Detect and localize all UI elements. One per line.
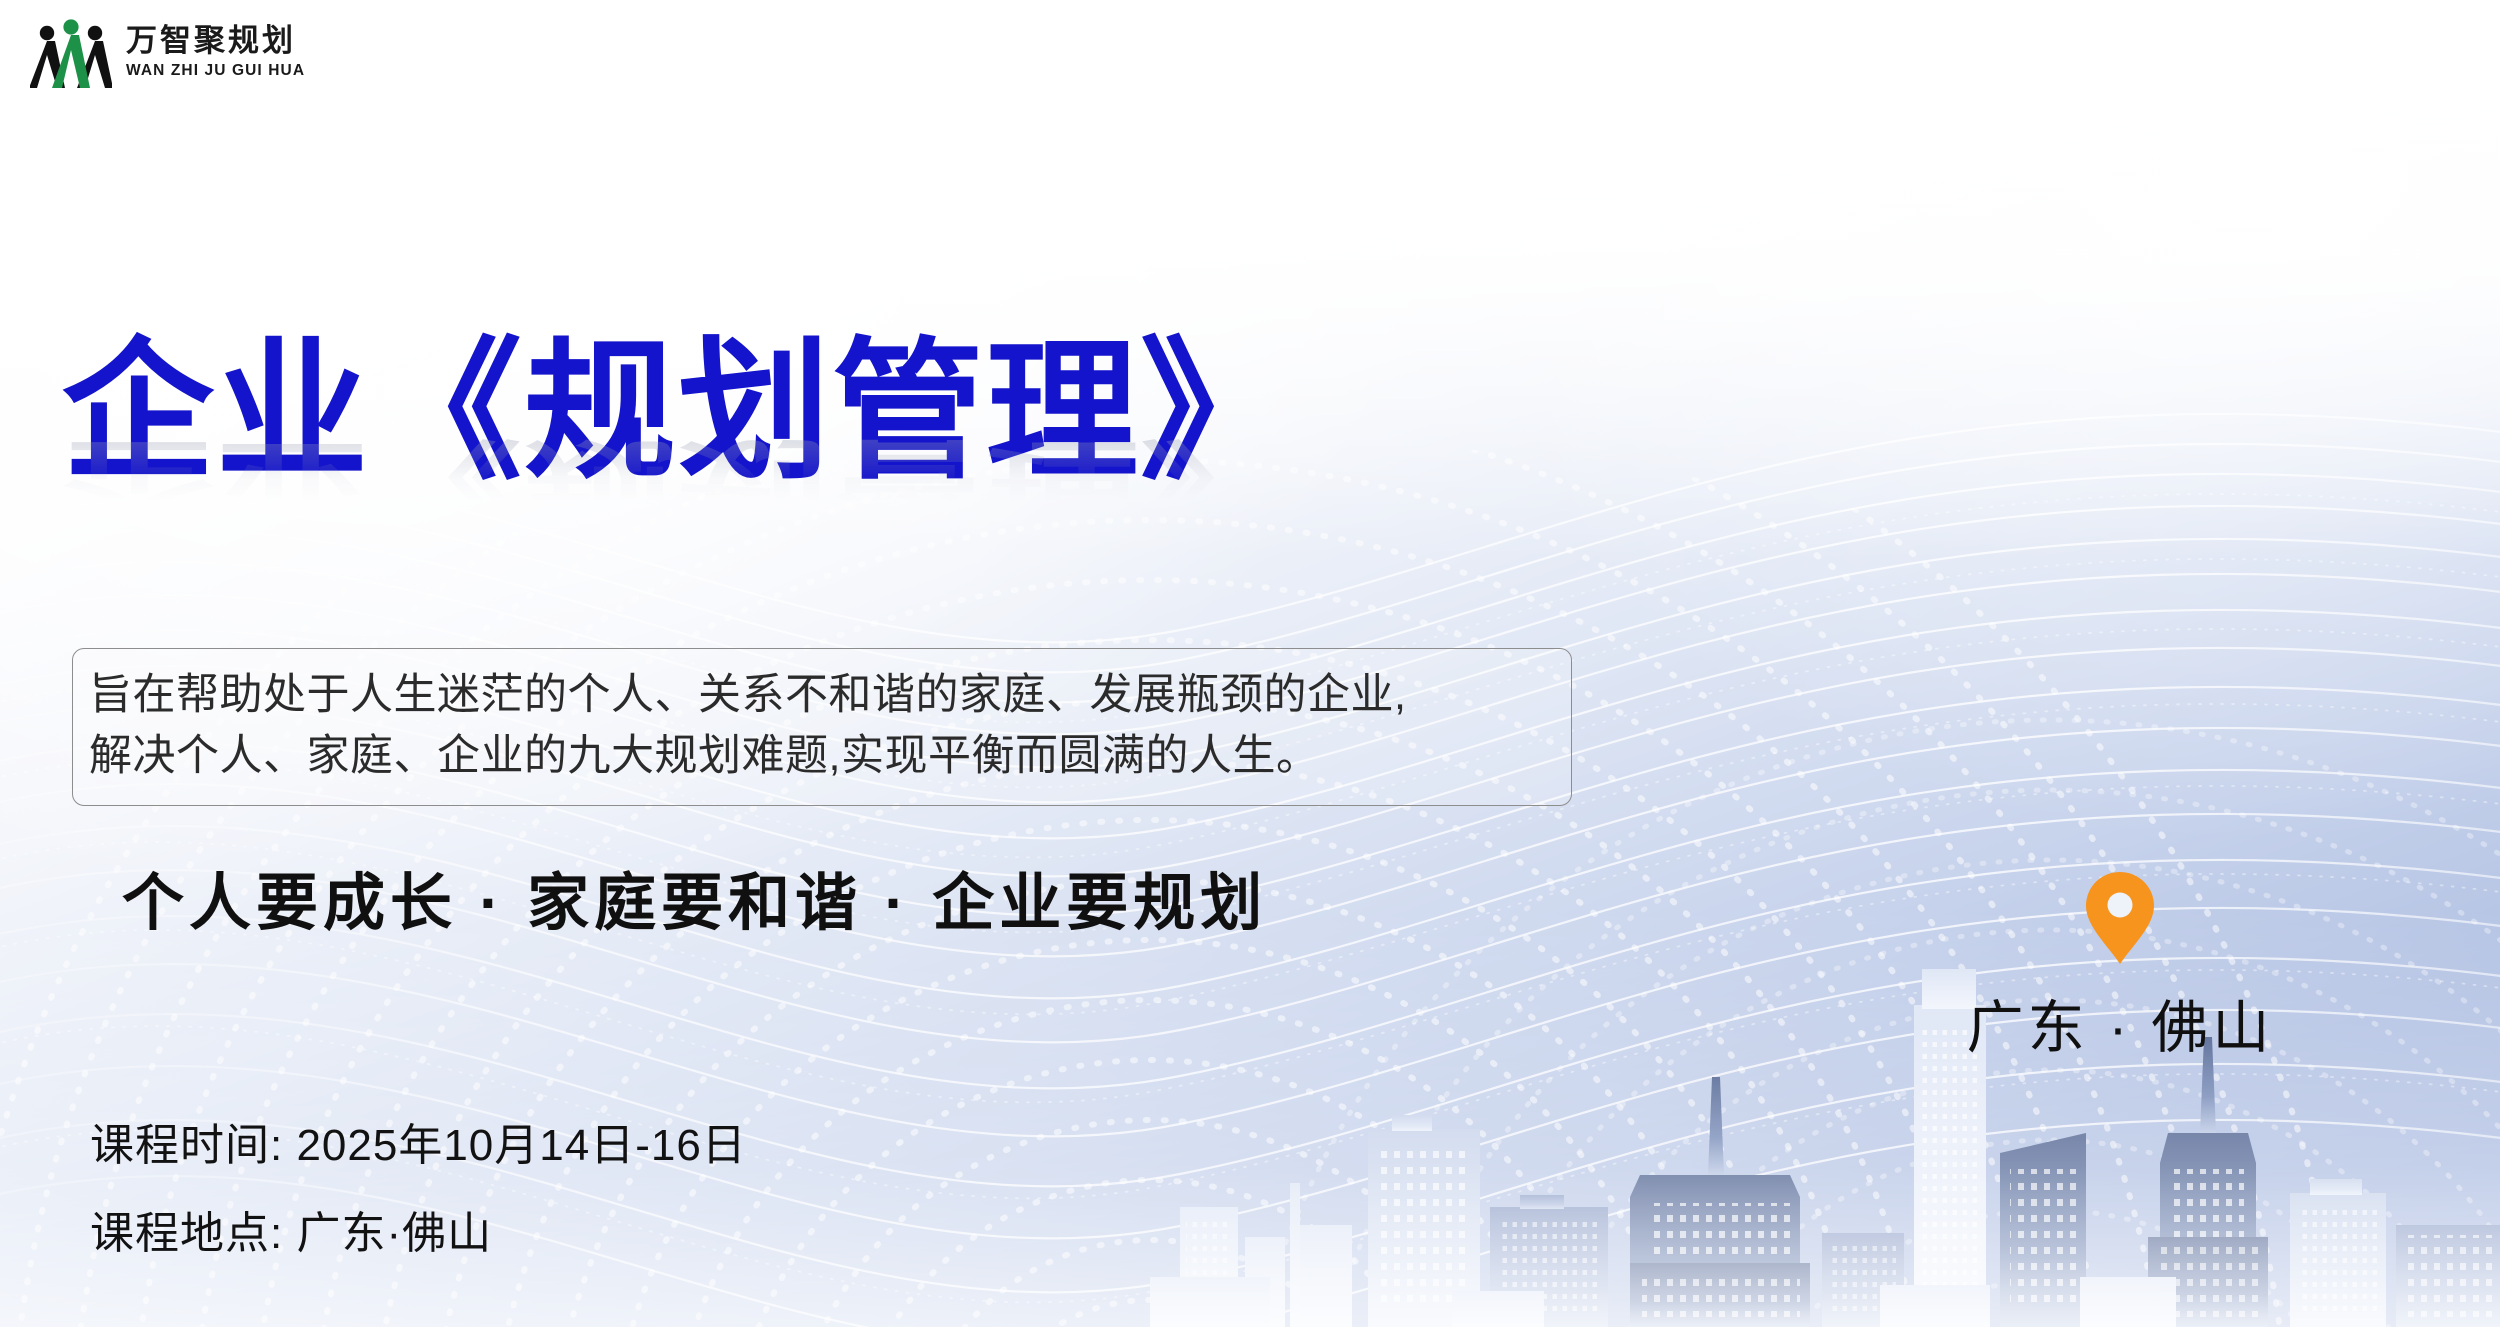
page-title: 企业《规划管理》	[62, 336, 1622, 488]
location-label: 广东 · 佛山	[1950, 982, 2290, 1064]
map-pin-icon	[2084, 870, 2156, 966]
description-line-2: 解决个人、家庭、企业的九大规划难题,实现平衡而圆满的人生。	[89, 726, 1555, 787]
brand-name-cn: 万智聚规划	[126, 24, 305, 59]
description-box: 旨在帮助处于人生迷茫的个人、关系不和谐的家庭、发展瓶颈的企业, 解决个人、家庭、…	[72, 648, 1572, 806]
course-time: 课程时间: 2025年10月14日-16日	[90, 1124, 747, 1168]
location-marker: 广东 · 佛山	[1950, 870, 2290, 1064]
brand-name-en: WAN ZHI JU GUI HUA	[126, 62, 305, 80]
promo-banner: 万智聚规划 WAN ZHI JU GUI HUA 企业《规划管理》 企业《规划管…	[0, 0, 2500, 1327]
description-line-1: 旨在帮助处于人生迷茫的个人、关系不和谐的家庭、发展瓶颈的企业,	[89, 665, 1555, 726]
brand-logo: 万智聚规划 WAN ZHI JU GUI HUA	[30, 14, 305, 90]
course-info-block: 课程时间: 2025年10月14日-16日 课程地点: 广东·佛山	[90, 1124, 747, 1256]
three-people-logo-icon	[30, 14, 112, 90]
hero-title-block: 企业《规划管理》 企业《规划管理》	[62, 336, 1622, 596]
course-place: 课程地点: 广东·佛山	[90, 1212, 747, 1256]
brand-logo-text: 万智聚规划 WAN ZHI JU GUI HUA	[126, 24, 305, 80]
tagline: 个人要成长 · 家庭要和谐 · 企业要规划	[122, 852, 1267, 942]
